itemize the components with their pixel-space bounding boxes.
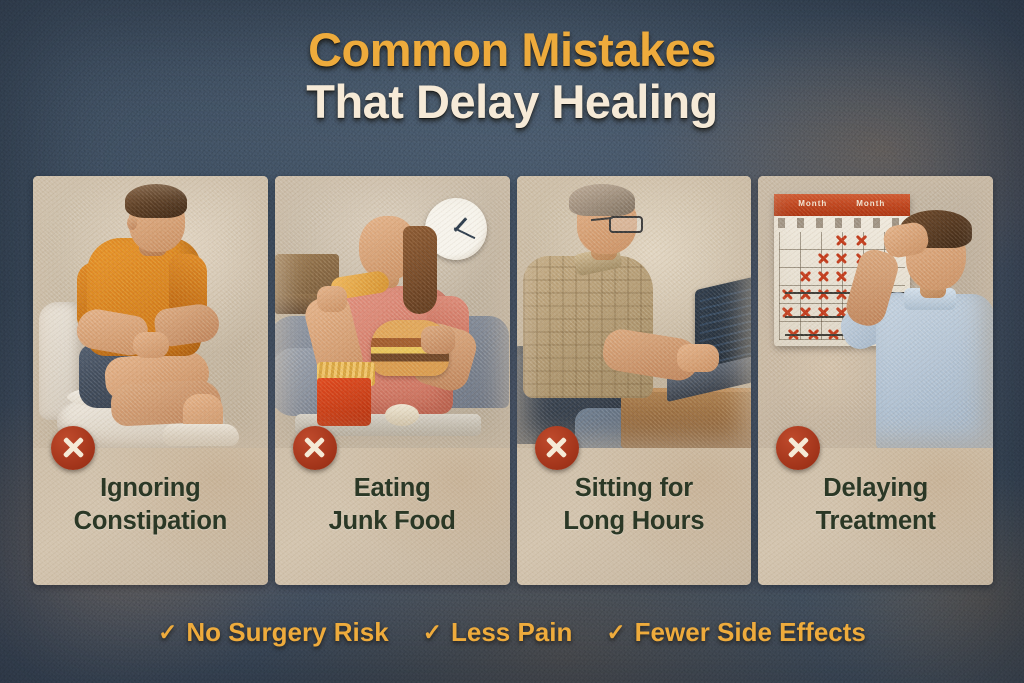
clock-minute-hand (453, 227, 475, 239)
hand-right-shape (421, 326, 455, 354)
card-label-line-2: Treatment (816, 505, 936, 538)
eyeglasses-icon (609, 216, 643, 233)
benefit-no-surgery-risk: ✓ No Surgery Risk (158, 617, 389, 648)
card-label-line-2: Junk Food (329, 505, 456, 538)
title-line-2: That Delay Healing (0, 78, 1024, 126)
benefit-label: No Surgery Risk (186, 617, 388, 648)
card-label: Sitting for Long Hours (517, 462, 752, 585)
foot-shape (163, 424, 239, 446)
x-mark-badge (535, 426, 579, 470)
card-label-line-1: Delaying (823, 472, 928, 505)
mistake-card-row: Ignoring Constipation (33, 176, 993, 585)
torso-plaid-shirt-shape (523, 256, 653, 398)
card-label-line-1: Ignoring (100, 472, 200, 505)
card-label-line-1: Eating (354, 472, 431, 505)
illustration-man-on-toilet (33, 176, 268, 448)
check-icon: ✓ (158, 621, 177, 644)
title-line-1: Common Mistakes (0, 26, 1024, 74)
mistake-card-eating-junk-food[interactable]: Eating Junk Food (275, 176, 510, 585)
check-icon: ✓ (423, 621, 442, 644)
card-label: Delaying Treatment (758, 462, 993, 585)
benefits-bar: ✓ No Surgery Risk ✓ Less Pain ✓ Fewer Si… (0, 608, 1024, 656)
illustration-man-at-laptop (517, 176, 752, 448)
wooden-desk-shape (621, 392, 752, 448)
page-title: Common Mistakes That Delay Healing (0, 26, 1024, 126)
benefit-label: Less Pain (451, 617, 572, 648)
card-label-line-1: Sitting for (575, 472, 693, 505)
clasped-hands-shape (133, 332, 169, 358)
hand-left-shape (317, 286, 347, 312)
x-mark-badge (51, 426, 95, 470)
hand-on-keyboard-shape (677, 344, 719, 372)
calendar-month-left: Month (798, 199, 827, 208)
card-label: Eating Junk Food (275, 462, 510, 585)
torso-blue-shirt-shape (876, 294, 993, 448)
card-label-line-2: Constipation (74, 505, 227, 538)
benefit-fewer-side-effects: ✓ Fewer Side Effects (606, 617, 865, 648)
dip-cup-shape (385, 404, 419, 426)
illustration-woman-eating-junk-food (275, 176, 510, 448)
ear-shape (127, 216, 137, 230)
grey-hair-shape (569, 184, 635, 216)
calendar-month-right: Month (856, 199, 885, 208)
x-mark-badge (776, 426, 820, 470)
mistake-card-sitting-long-hours[interactable]: Sitting for Long Hours (517, 176, 752, 585)
x-mark-badge (293, 426, 337, 470)
benefit-label: Fewer Side Effects (635, 617, 866, 648)
calendar-weekday-row (778, 218, 906, 228)
card-label-line-2: Long Hours (563, 505, 704, 538)
hair-shape (125, 184, 187, 218)
hair-top-shape (403, 226, 437, 314)
infographic-poster: Common Mistakes That Delay Healing (0, 0, 1024, 683)
calendar-header-band: Month Month (774, 194, 910, 216)
check-icon: ✓ (606, 621, 625, 644)
mistake-card-delaying-treatment[interactable]: Month Month (758, 176, 993, 585)
mistake-card-ignoring-constipation[interactable]: Ignoring Constipation (33, 176, 268, 585)
benefit-less-pain: ✓ Less Pain (423, 617, 573, 648)
illustration-worried-man-with-calendar: Month Month (758, 176, 993, 448)
fries-carton-shape (317, 378, 371, 426)
card-label: Ignoring Constipation (33, 462, 268, 585)
